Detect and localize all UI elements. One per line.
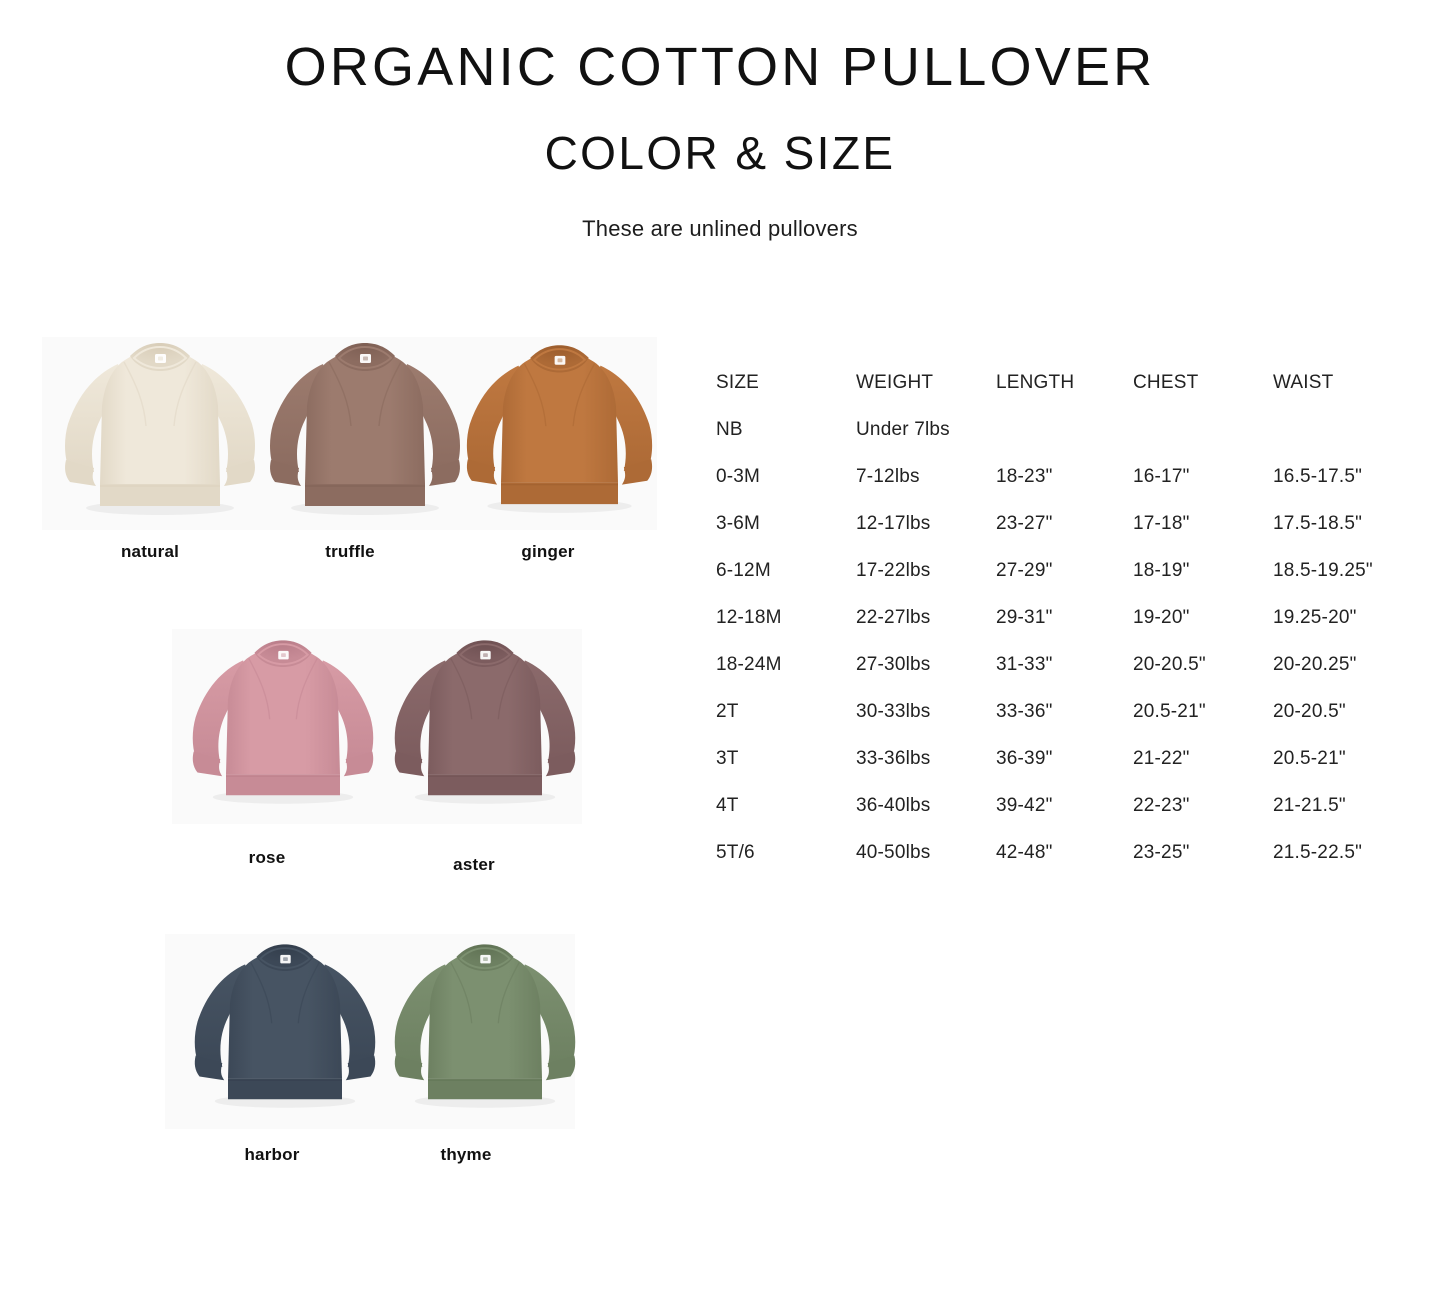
cell-waist: 20.5-21" bbox=[1273, 748, 1346, 770]
garment-image-ginger bbox=[462, 336, 657, 526]
cell-weight: 7-12lbs bbox=[856, 466, 920, 488]
column-header-waist: WAIST bbox=[1273, 372, 1333, 394]
garment-image-thyme bbox=[390, 934, 580, 1122]
table-row: 3T33-36lbs36-39"21-22"20.5-21" bbox=[714, 748, 1424, 795]
cell-chest: 20.5-21" bbox=[1133, 701, 1206, 723]
cell-length: 31-33" bbox=[996, 654, 1053, 676]
table-row: 5T/640-50lbs42-48"23-25"21.5-22.5" bbox=[714, 842, 1424, 889]
cell-waist: 21-21.5" bbox=[1273, 795, 1346, 817]
table-row: 6-12M17-22lbs27-29"18-19"18.5-19.25" bbox=[714, 560, 1424, 607]
header: ORGANIC COTTON PULLOVER COLOR & SIZE The… bbox=[0, 0, 1440, 242]
cell-chest: 22-23" bbox=[1133, 795, 1190, 817]
garment-image-truffle bbox=[265, 336, 465, 526]
size-chart: SIZE WEIGHT LENGTH CHEST WAIST NBUnder 7… bbox=[714, 372, 1424, 889]
tagline: These are unlined pullovers bbox=[0, 176, 1440, 242]
cell-length: 18-23" bbox=[996, 466, 1053, 488]
cell-length: 29-31" bbox=[996, 607, 1053, 629]
cell-length: 36-39" bbox=[996, 748, 1053, 770]
column-header-chest: CHEST bbox=[1133, 372, 1198, 394]
cell-waist: 21.5-22.5" bbox=[1273, 842, 1362, 864]
cell-waist: 20-20.25" bbox=[1273, 654, 1357, 676]
cell-chest: 20-20.5" bbox=[1133, 654, 1206, 676]
cell-chest: 21-22" bbox=[1133, 748, 1190, 770]
column-header-size: SIZE bbox=[716, 372, 759, 394]
color-label-natural: natural bbox=[90, 542, 210, 562]
page-title: ORGANIC COTTON PULLOVER bbox=[0, 0, 1440, 94]
cell-length: 42-48" bbox=[996, 842, 1053, 864]
cell-size: 3-6M bbox=[716, 513, 760, 535]
cell-length: 23-27" bbox=[996, 513, 1053, 535]
cell-size: 0-3M bbox=[716, 466, 760, 488]
color-label-truffle: truffle bbox=[290, 542, 410, 562]
cell-weight: 12-17lbs bbox=[856, 513, 930, 535]
cell-chest: 23-25" bbox=[1133, 842, 1190, 864]
cell-length: 27-29" bbox=[996, 560, 1053, 582]
cell-waist: 17.5-18.5" bbox=[1273, 513, 1362, 535]
cell-waist: 18.5-19.25" bbox=[1273, 560, 1373, 582]
cell-size: 2T bbox=[716, 701, 739, 723]
cell-weight: 36-40lbs bbox=[856, 795, 930, 817]
column-header-length: LENGTH bbox=[996, 372, 1074, 394]
page-subtitle: COLOR & SIZE bbox=[0, 94, 1440, 176]
table-row: 12-18M22-27lbs29-31"19-20"19.25-20" bbox=[714, 607, 1424, 654]
cell-weight: 17-22lbs bbox=[856, 560, 930, 582]
cell-length: 39-42" bbox=[996, 795, 1053, 817]
cell-chest: 18-19" bbox=[1133, 560, 1190, 582]
cell-size: 4T bbox=[716, 795, 739, 817]
cell-chest: 16-17" bbox=[1133, 466, 1190, 488]
garment-image-rose bbox=[188, 630, 378, 818]
cell-weight: 33-36lbs bbox=[856, 748, 930, 770]
color-label-ginger: ginger bbox=[488, 542, 608, 562]
color-label-aster: aster bbox=[414, 855, 534, 875]
color-label-rose: rose bbox=[207, 848, 327, 868]
product-infographic: ORGANIC COTTON PULLOVER COLOR & SIZE The… bbox=[0, 0, 1440, 1300]
table-row: 4T36-40lbs39-42"22-23"21-21.5" bbox=[714, 795, 1424, 842]
cell-size: 12-18M bbox=[716, 607, 782, 629]
cell-size: 3T bbox=[716, 748, 739, 770]
garment-image-aster bbox=[390, 630, 580, 818]
color-label-harbor: harbor bbox=[212, 1145, 332, 1165]
cell-length: 33-36" bbox=[996, 701, 1053, 723]
size-chart-header-row: SIZE WEIGHT LENGTH CHEST WAIST bbox=[714, 372, 1424, 419]
cell-waist: 16.5-17.5" bbox=[1273, 466, 1362, 488]
garment-image-harbor bbox=[190, 934, 380, 1122]
cell-size: NB bbox=[716, 419, 743, 441]
color-label-thyme: thyme bbox=[406, 1145, 526, 1165]
cell-weight: 40-50lbs bbox=[856, 842, 930, 864]
cell-waist: 19.25-20" bbox=[1273, 607, 1357, 629]
table-row: NBUnder 7lbs bbox=[714, 419, 1424, 466]
cell-waist: 20-20.5" bbox=[1273, 701, 1346, 723]
cell-chest: 17-18" bbox=[1133, 513, 1190, 535]
cell-size: 18-24M bbox=[716, 654, 782, 676]
cell-weight: 22-27lbs bbox=[856, 607, 930, 629]
garment-image-natural bbox=[60, 336, 260, 526]
cell-weight: 30-33lbs bbox=[856, 701, 930, 723]
cell-weight: 27-30lbs bbox=[856, 654, 930, 676]
cell-size: 5T/6 bbox=[716, 842, 755, 864]
table-row: 0-3M7-12lbs18-23"16-17"16.5-17.5" bbox=[714, 466, 1424, 513]
table-row: 18-24M27-30lbs31-33"20-20.5"20-20.25" bbox=[714, 654, 1424, 701]
column-header-weight: WEIGHT bbox=[856, 372, 933, 394]
cell-weight: Under 7lbs bbox=[856, 419, 950, 441]
cell-size: 6-12M bbox=[716, 560, 771, 582]
cell-chest: 19-20" bbox=[1133, 607, 1190, 629]
table-row: 2T30-33lbs33-36"20.5-21"20-20.5" bbox=[714, 701, 1424, 748]
table-row: 3-6M12-17lbs23-27"17-18"17.5-18.5" bbox=[714, 513, 1424, 560]
